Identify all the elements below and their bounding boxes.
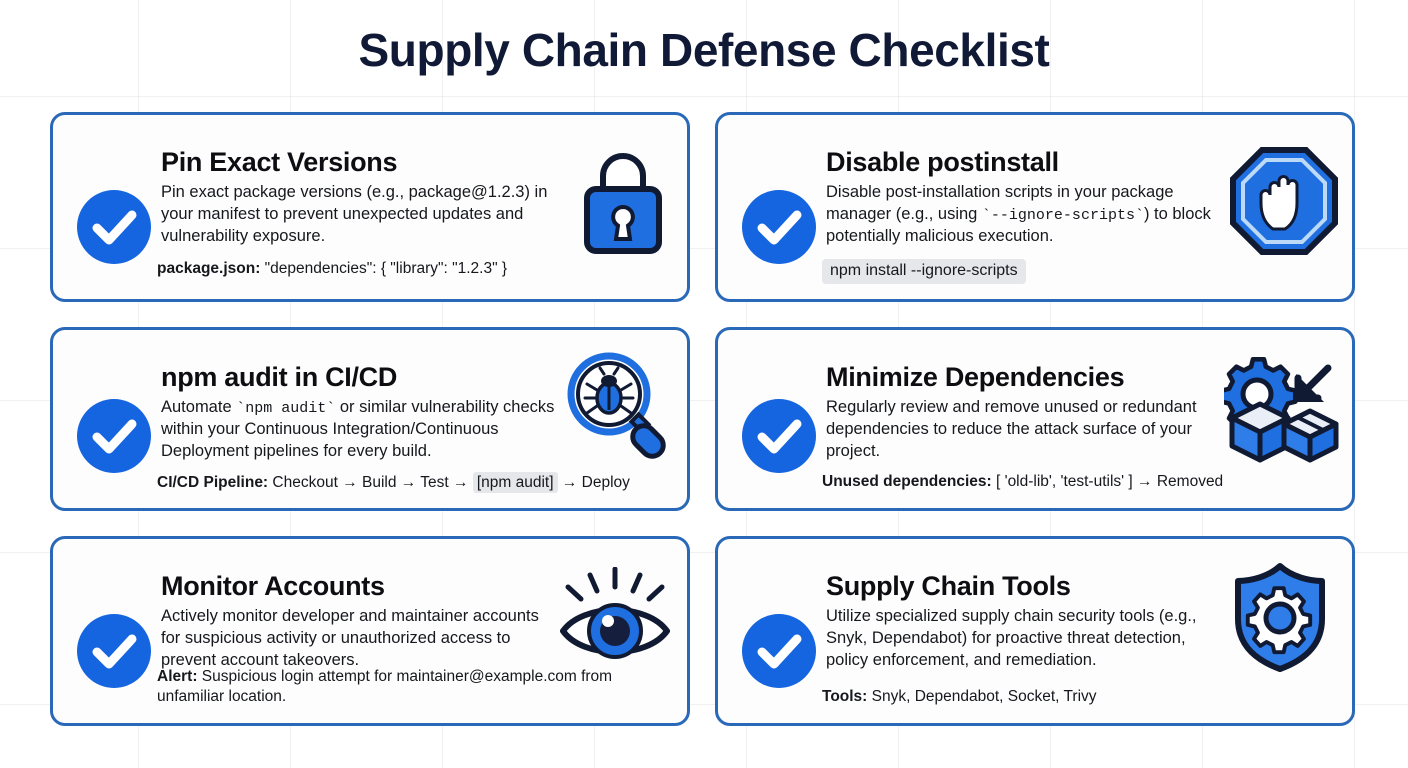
card-content: Monitor Accounts Actively monitor develo… — [157, 551, 673, 672]
card-description-code: `--ignore-scripts` — [982, 207, 1144, 224]
pipeline-step-highlight: [npm audit] — [473, 472, 558, 493]
checklist-card-supply-chain-tools[interactable]: Supply Chain Tools Utilize specialized s… — [715, 536, 1355, 726]
card-footer: Alert: Suspicious login attempt for main… — [157, 667, 671, 707]
check-icon — [77, 399, 151, 473]
card-footer: Tools: Snyk, Dependabot, Socket, Trivy — [822, 687, 1336, 707]
card-description-code: `npm audit` — [236, 400, 335, 417]
checklist-card-npm-audit-in-ci-cd[interactable]: npm audit in CI/CD Automate `npm audit` … — [50, 327, 690, 511]
card-footer-label: CI/CD Pipeline: — [157, 474, 268, 491]
card-title: Minimize Dependencies — [826, 362, 1338, 392]
card-content: Minimize Dependencies Regularly review a… — [822, 342, 1338, 463]
card-description: Automate `npm audit` or similar vulnerab… — [161, 397, 555, 463]
check-icon — [742, 190, 816, 264]
card-content: Pin Exact Versions Pin exact package ver… — [157, 127, 673, 248]
command-chip: npm install --ignore-scripts — [822, 259, 1026, 284]
card-footer-label: package.json: — [157, 260, 260, 277]
card-description: Regularly review and remove unused or re… — [826, 397, 1204, 463]
card-content: Supply Chain Tools Utilize specialized s… — [822, 551, 1338, 672]
check-icon — [742, 614, 816, 688]
card-footer-label: Tools: — [822, 688, 867, 705]
card-content: Disable postinstall Disable post-install… — [822, 127, 1338, 248]
card-footer: npm install --ignore-scripts — [822, 259, 1336, 284]
card-title: Supply Chain Tools — [826, 571, 1338, 601]
check-badge — [71, 342, 157, 473]
card-content: npm audit in CI/CD Automate `npm audit` … — [157, 342, 673, 463]
check-badge — [71, 551, 157, 688]
card-description-pre: Automate — [161, 398, 236, 416]
card-title: Disable postinstall — [826, 147, 1338, 177]
card-title: Pin Exact Versions — [161, 147, 673, 177]
checklist-card-monitor-accounts[interactable]: Monitor Accounts Actively monitor develo… — [50, 536, 690, 726]
check-icon — [77, 614, 151, 688]
card-footer-label: Alert: — [157, 668, 197, 685]
card-footer-text-a: Checkout → Build → Test → — [268, 474, 473, 491]
card-footer-text: Suspicious login attempt for maintainer@… — [157, 668, 612, 705]
check-badge — [736, 127, 822, 264]
card-footer-text: Snyk, Dependabot, Socket, Trivy — [867, 688, 1096, 705]
card-description: Utilize specialized supply chain securit… — [826, 606, 1218, 672]
card-title: Monitor Accounts — [161, 571, 673, 601]
card-footer-label: Unused dependencies: — [822, 473, 992, 490]
card-title: npm audit in CI/CD — [161, 362, 673, 392]
card-footer: Unused dependencies: [ 'old-lib', 'test-… — [822, 472, 1336, 492]
card-footer-text: "dependencies": { "library": "1.2.3" } — [260, 260, 507, 277]
checklist-card-pin-exact-versions[interactable]: Pin Exact Versions Pin exact package ver… — [50, 112, 690, 302]
check-icon — [77, 190, 151, 264]
checklist-grid: Pin Exact Versions Pin exact package ver… — [50, 112, 1360, 726]
card-footer: CI/CD Pipeline: Checkout → Build → Test … — [157, 473, 671, 493]
check-badge — [736, 551, 822, 688]
card-description: Disable post-installation scripts in you… — [826, 182, 1218, 248]
check-badge — [71, 127, 157, 264]
checklist-infographic: Supply Chain Defense Checklist Pin Exact… — [0, 0, 1408, 768]
checklist-card-minimize-dependencies[interactable]: Minimize Dependencies Regularly review a… — [715, 327, 1355, 511]
check-icon — [742, 399, 816, 473]
card-footer-text: [ 'old-lib', 'test-utils' ] → Removed — [992, 473, 1224, 490]
card-description: Pin exact package versions (e.g., packag… — [161, 182, 561, 248]
card-footer-text-b: → Deploy — [558, 474, 630, 491]
card-description: Actively monitor developer and maintaine… — [161, 606, 549, 672]
check-badge — [736, 342, 822, 473]
page-title: Supply Chain Defense Checklist — [0, 23, 1408, 77]
card-footer: package.json: "dependencies": { "library… — [157, 259, 671, 279]
checklist-card-disable-postinstall[interactable]: Disable postinstall Disable post-install… — [715, 112, 1355, 302]
